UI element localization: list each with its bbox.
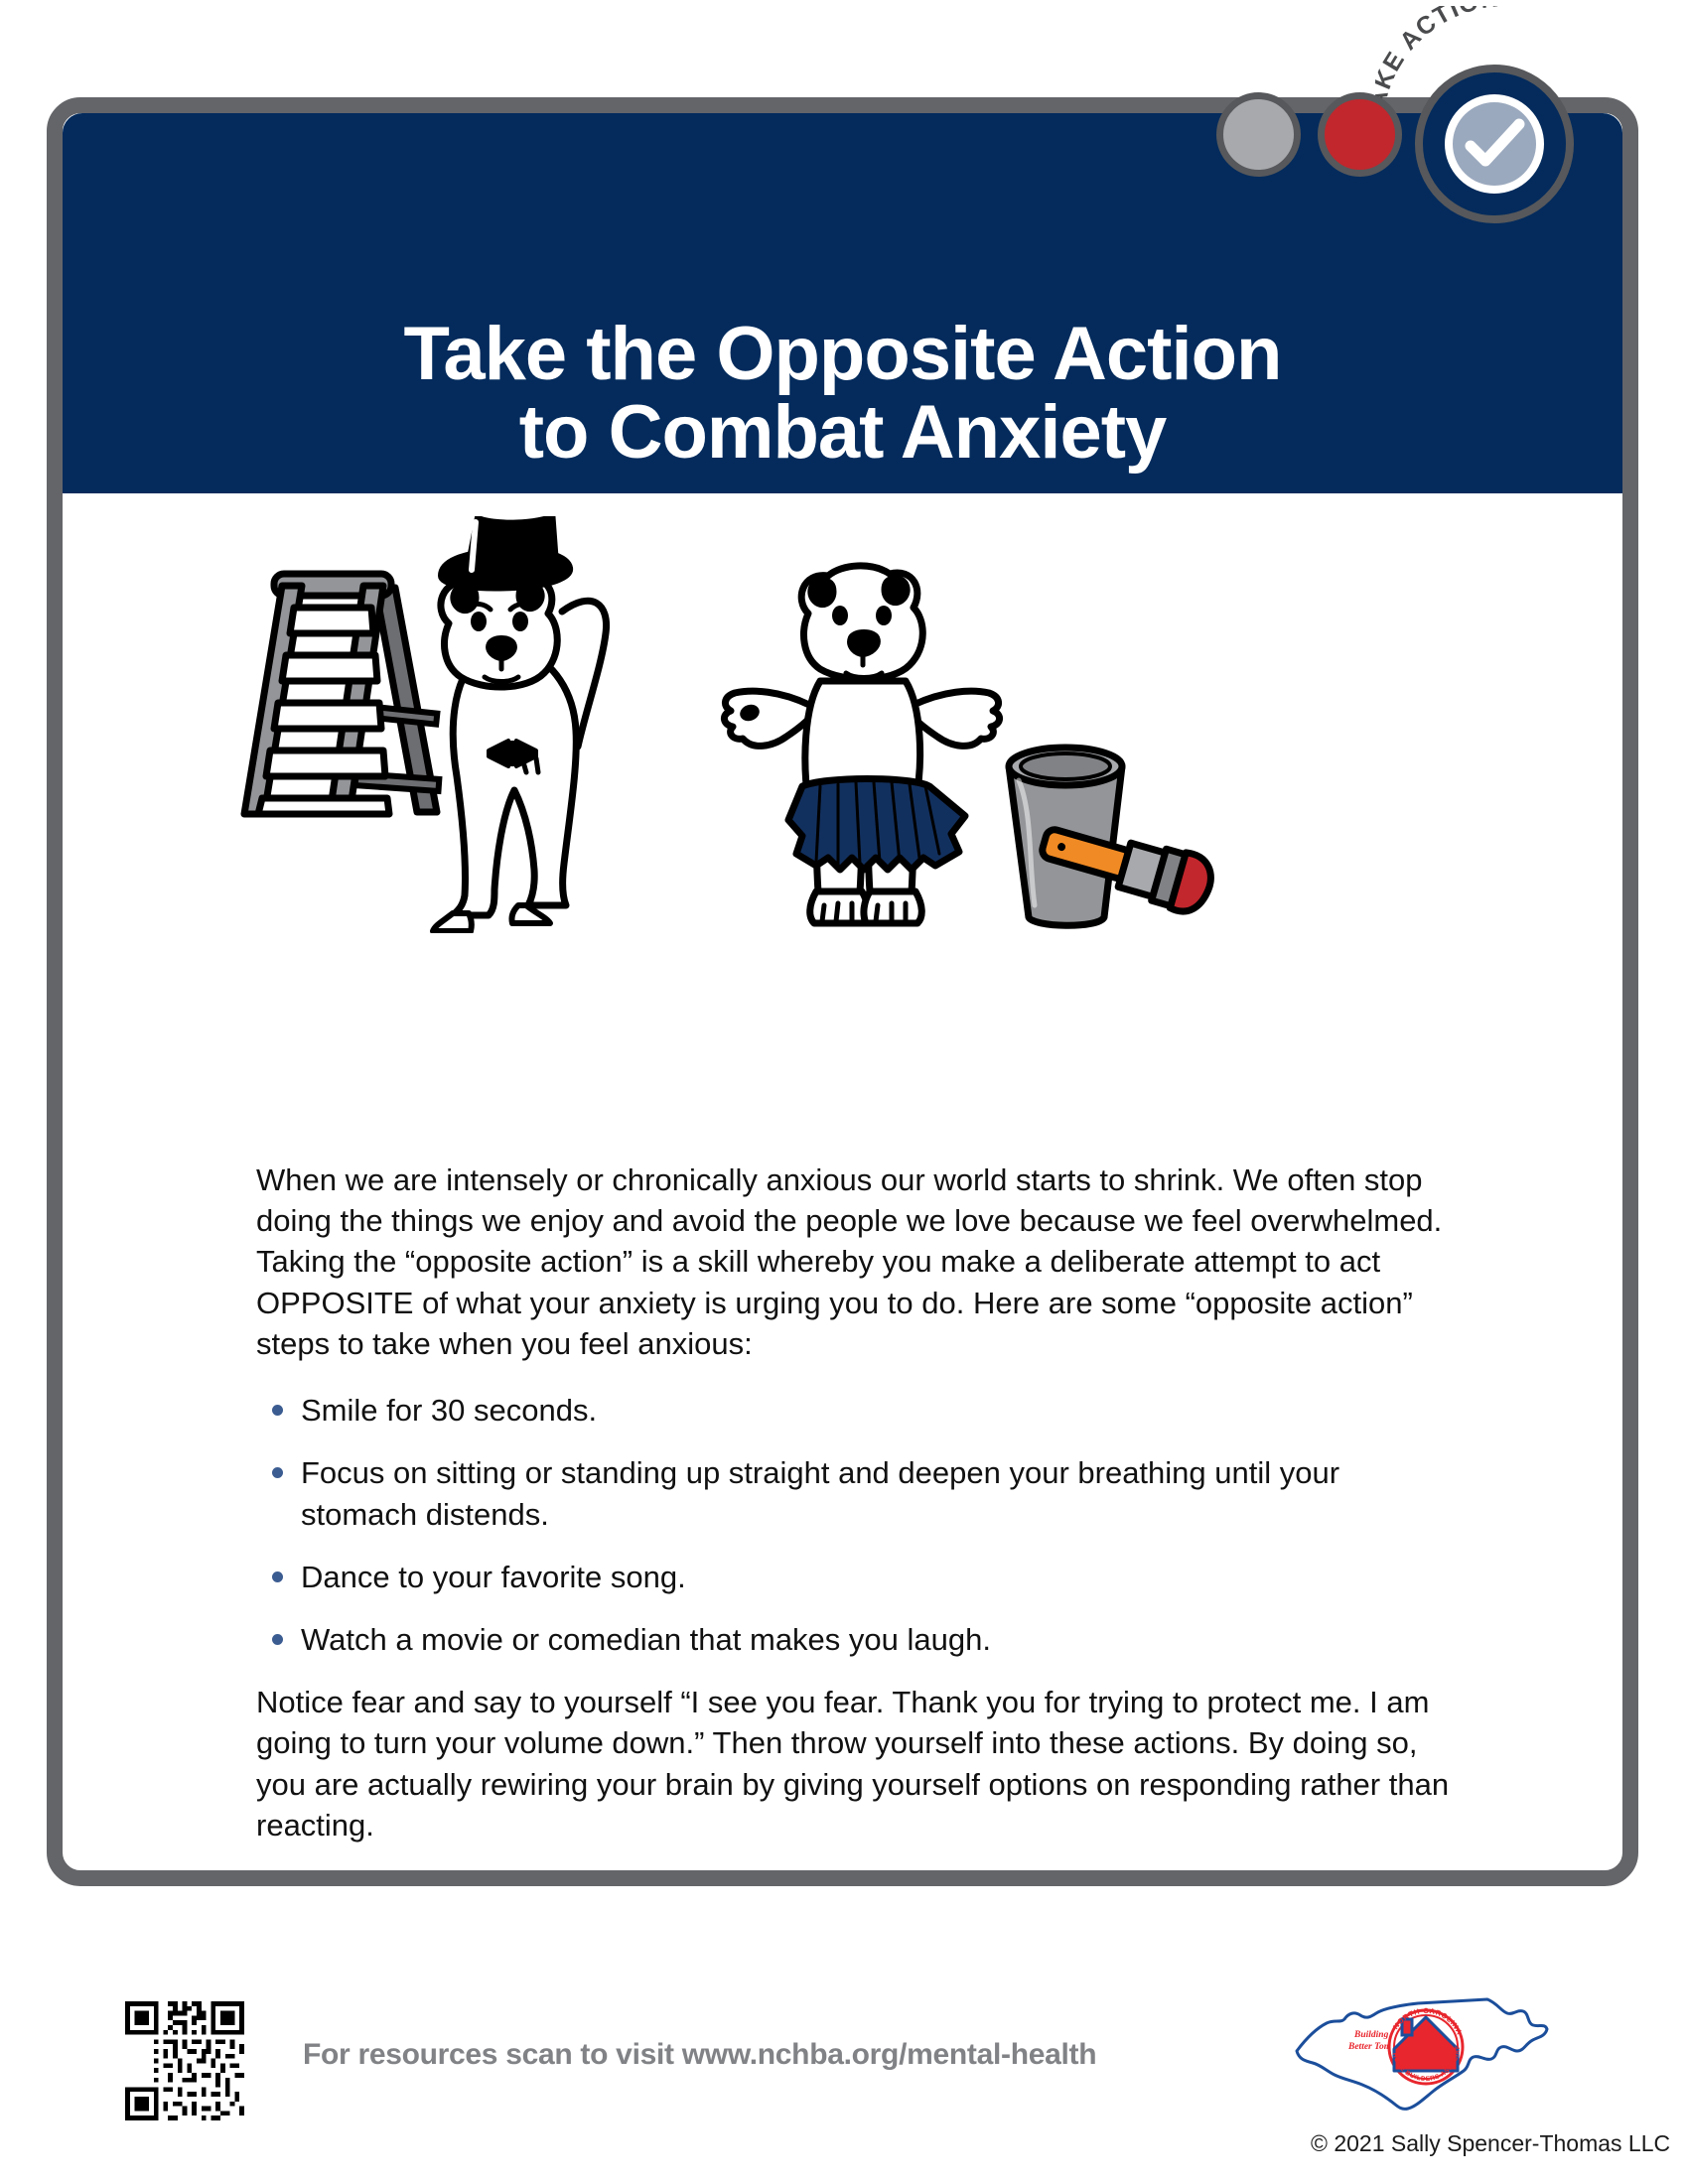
qr-code[interactable] [125,2001,244,2120]
poster-page: Take the Opposite Action to Combat Anxie… [0,0,1688,2184]
bear-with-top-hat-icon [433,516,607,931]
page-title-line2: to Combat Anxiety [519,394,1167,472]
list-item: Focus on sitting or standing up straight… [256,1452,1458,1534]
list-item: Smile for 30 seconds. [256,1390,1458,1431]
page-title-line1: Take the Opposite Action [404,316,1282,393]
step-ladder-icon [244,574,439,814]
badge-inner-circle [1445,94,1544,194]
tutu-icon [788,779,965,871]
list-item: Watch a movie or comedian that makes you… [256,1619,1458,1660]
top-hat-icon [441,516,570,589]
copyright-text: © 2021 Sally Spencer-Thomas LLC [1311,2130,1670,2157]
badge-ring [1415,65,1574,223]
badge-dot-red [1318,92,1402,177]
resources-text: For resources scan to visit www.nchba.or… [303,2038,1096,2072]
list-item: Dance to your favorite song. [256,1557,1458,1597]
bear-with-tutu-icon [724,566,999,923]
check-icon [1453,102,1536,186]
badge-dot-gray [1216,92,1301,177]
closing-paragraph: Notice fear and say to yourself “I see y… [256,1682,1458,1845]
take-action-badge: TAKE ACTION [1162,8,1678,236]
bears-illustration [228,516,1241,933]
nchba-logo: Building For A Better Tomorrow NORTH CAR… [1293,1989,1551,2118]
intro-paragraph: When we are intensely or chronically anx… [256,1160,1458,1364]
body-content: When we are intensely or chronically anx… [256,1160,1458,1871]
opposite-action-steps-list: Smile for 30 seconds. Focus on sitting o… [256,1390,1458,1660]
